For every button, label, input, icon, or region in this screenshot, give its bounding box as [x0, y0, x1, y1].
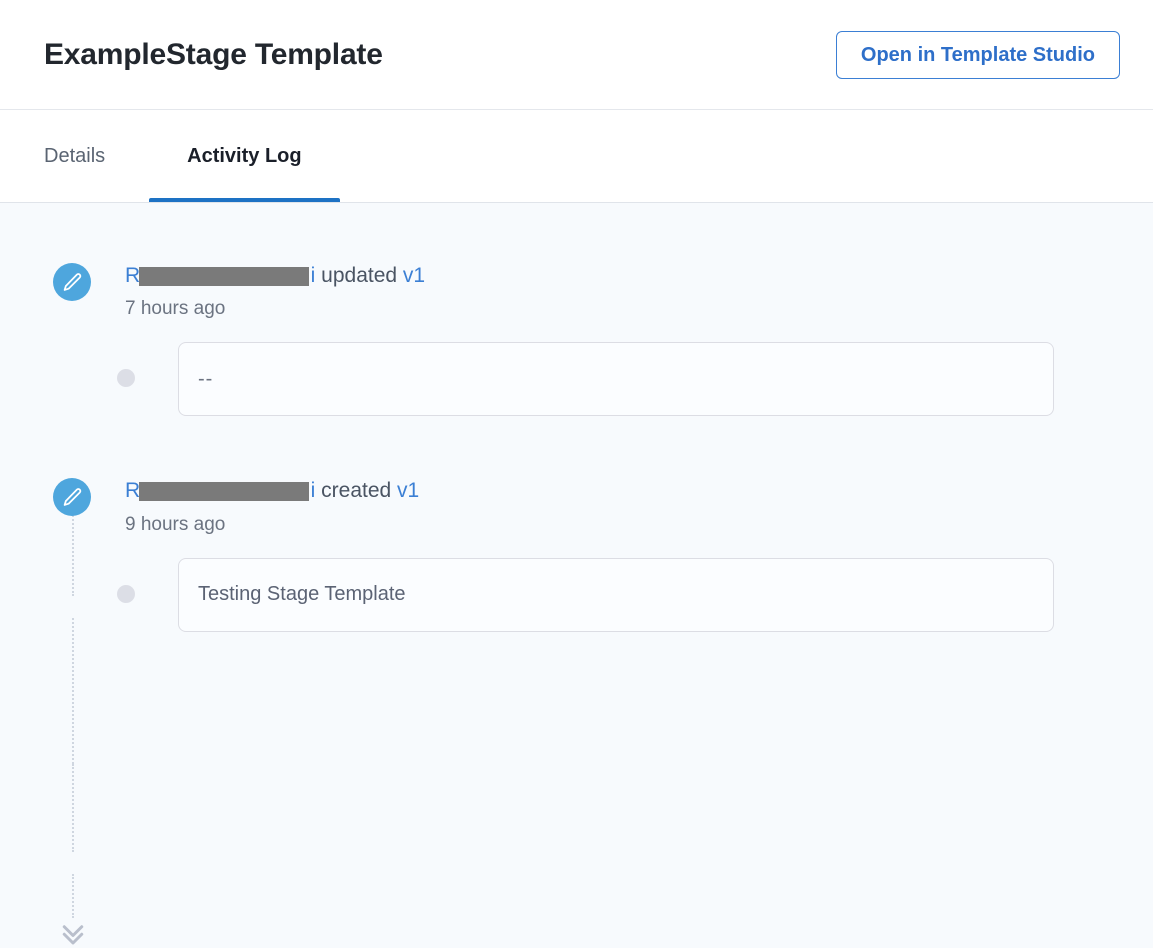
timeline-dot — [117, 585, 135, 603]
open-in-template-studio-button[interactable]: Open in Template Studio — [836, 31, 1120, 79]
activity-entry-body: Redacted Redactedi updated v1 7 hours ag… — [125, 263, 425, 320]
activity-log-panel: Redacted Redactedi updated v1 7 hours ag… — [0, 203, 1153, 832]
tab-details[interactable]: Details — [44, 110, 149, 202]
version-link[interactable]: v1 — [397, 479, 419, 502]
redaction-overlay — [139, 482, 309, 501]
activity-timestamp: 9 hours ago — [125, 514, 419, 536]
timeline-rail-segment — [72, 874, 74, 918]
tab-activity-log[interactable]: Activity Log — [149, 110, 339, 202]
actor-name-visible-prefix: R — [125, 264, 140, 287]
activity-entry-summary: Redacted Redactedi updated v1 — [125, 263, 425, 289]
activity-entry-summary: Redacted Redactedi created v1 — [125, 478, 419, 504]
activity-message-row: Testing Stage Template — [53, 558, 1153, 632]
actor-name-visible-suffix: i — [311, 264, 316, 287]
activity-entry-body: Redacted Redactedi created v1 9 hours ag… — [125, 478, 419, 535]
activity-entry-header: Redacted Redactedi updated v1 7 hours ag… — [53, 263, 1153, 320]
activity-entry: Redacted Redactedi created v1 9 hours ag… — [53, 478, 1153, 631]
chevron-double-down-icon[interactable] — [58, 918, 88, 948]
activity-message-card: Testing Stage Template — [178, 558, 1054, 632]
redaction-overlay — [139, 267, 309, 286]
page-header: ExampleStage Template Open in Template S… — [0, 0, 1153, 110]
entry-spacer — [53, 416, 1153, 478]
actor-name[interactable]: Redacted Redactedi — [125, 263, 315, 289]
actor-name-visible-suffix: i — [311, 479, 316, 502]
timeline-rail-segment — [72, 764, 74, 852]
activity-message-row: -- — [53, 342, 1153, 416]
activity-timestamp: 7 hours ago — [125, 298, 425, 320]
pencil-icon — [53, 478, 91, 516]
timeline-dot — [117, 369, 135, 387]
actor-name[interactable]: Redacted Redactedi — [125, 478, 315, 504]
activity-message-card: -- — [178, 342, 1054, 416]
activity-timeline: Redacted Redactedi updated v1 7 hours ag… — [0, 263, 1153, 632]
tab-bar: Details Activity Log — [0, 110, 1153, 203]
activity-verb: created — [321, 479, 391, 502]
activity-entry: Redacted Redactedi updated v1 7 hours ag… — [53, 263, 1153, 416]
timeline-rail-segment — [72, 618, 74, 764]
version-link[interactable]: v1 — [403, 264, 425, 287]
activity-entry-header: Redacted Redactedi created v1 9 hours ag… — [53, 478, 1153, 535]
activity-verb: updated — [321, 264, 397, 287]
page-title: ExampleStage Template — [44, 38, 383, 72]
actor-name-visible-prefix: R — [125, 479, 140, 502]
pencil-icon — [53, 263, 91, 301]
